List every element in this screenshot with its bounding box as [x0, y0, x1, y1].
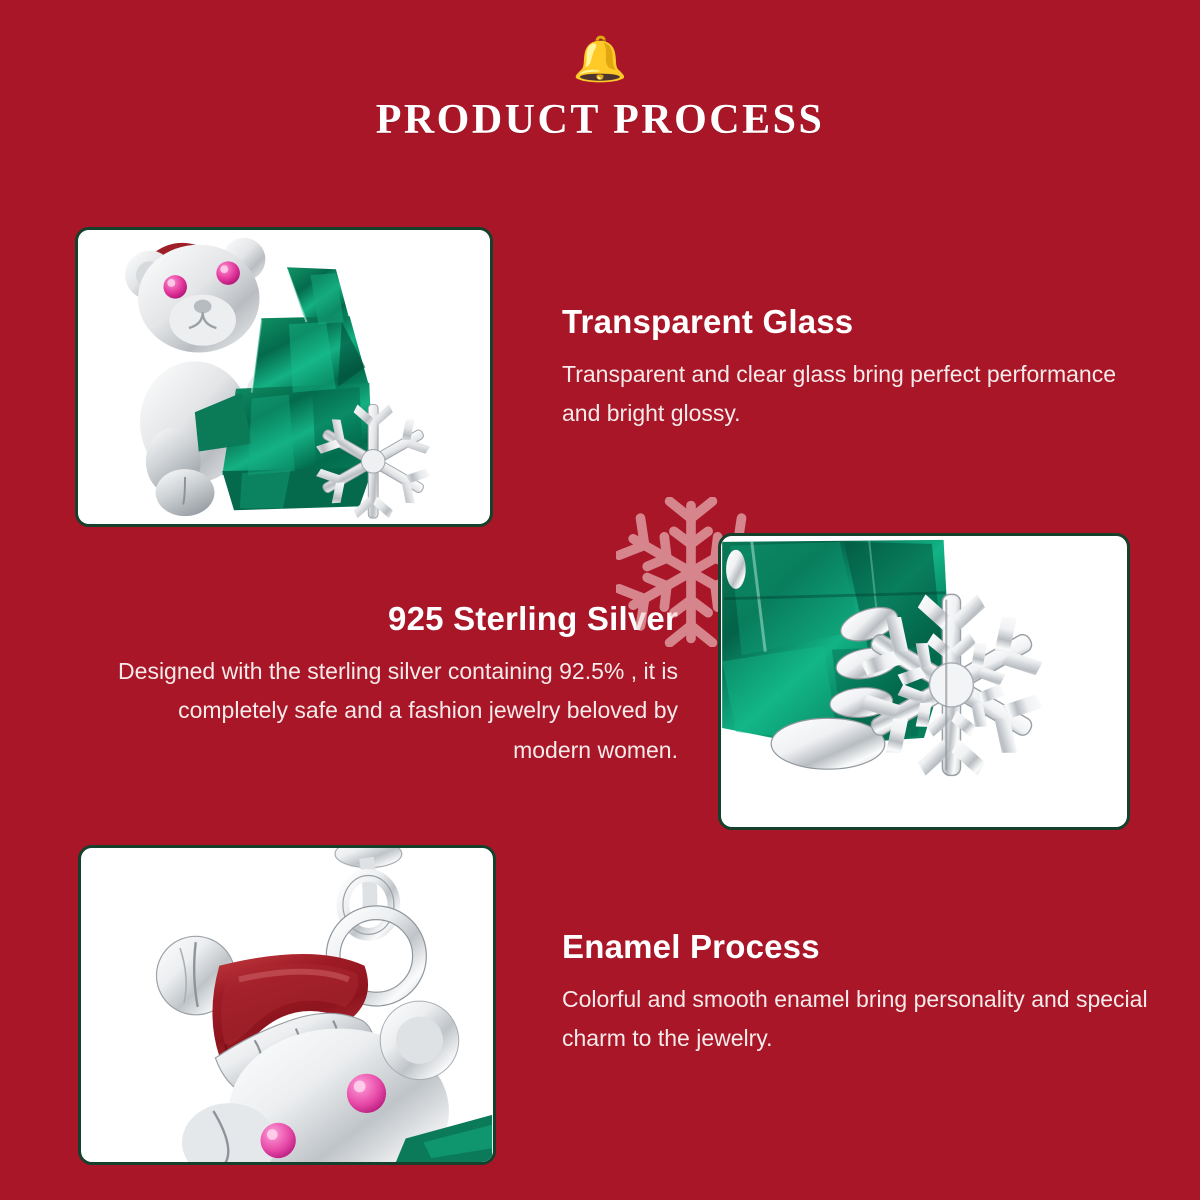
feature-body: Designed with the sterling silver contai… [118, 652, 678, 771]
bells-icon: 🔔 [0, 38, 1200, 90]
enamel-santa-hat-illustration [81, 848, 493, 1162]
infographic-root: 🔔 PRODUCT PROCESS [0, 0, 1200, 1200]
crystal-snowflake-closeup-illustration [721, 536, 1127, 827]
feature-transparent-glass: Transparent Glass Transparent and clear … [562, 303, 1142, 434]
feature-heading: Enamel Process [562, 928, 1152, 966]
bear-crystal-tree-illustration [78, 230, 490, 524]
feature-body: Transparent and clear glass bring perfec… [562, 355, 1142, 434]
feature-sterling-silver: 925 Sterling Silver Designed with the st… [118, 600, 678, 771]
product-photo-transparent-glass [75, 227, 493, 527]
feature-heading: Transparent Glass [562, 303, 1142, 341]
feature-enamel-process: Enamel Process Colorful and smooth ename… [562, 928, 1152, 1059]
product-photo-enamel-process [78, 845, 496, 1165]
feature-heading: 925 Sterling Silver [118, 600, 678, 638]
product-photo-sterling-silver [718, 533, 1130, 830]
feature-body: Colorful and smooth enamel bring persona… [562, 980, 1152, 1059]
page-title: PRODUCT PROCESS [0, 96, 1200, 144]
